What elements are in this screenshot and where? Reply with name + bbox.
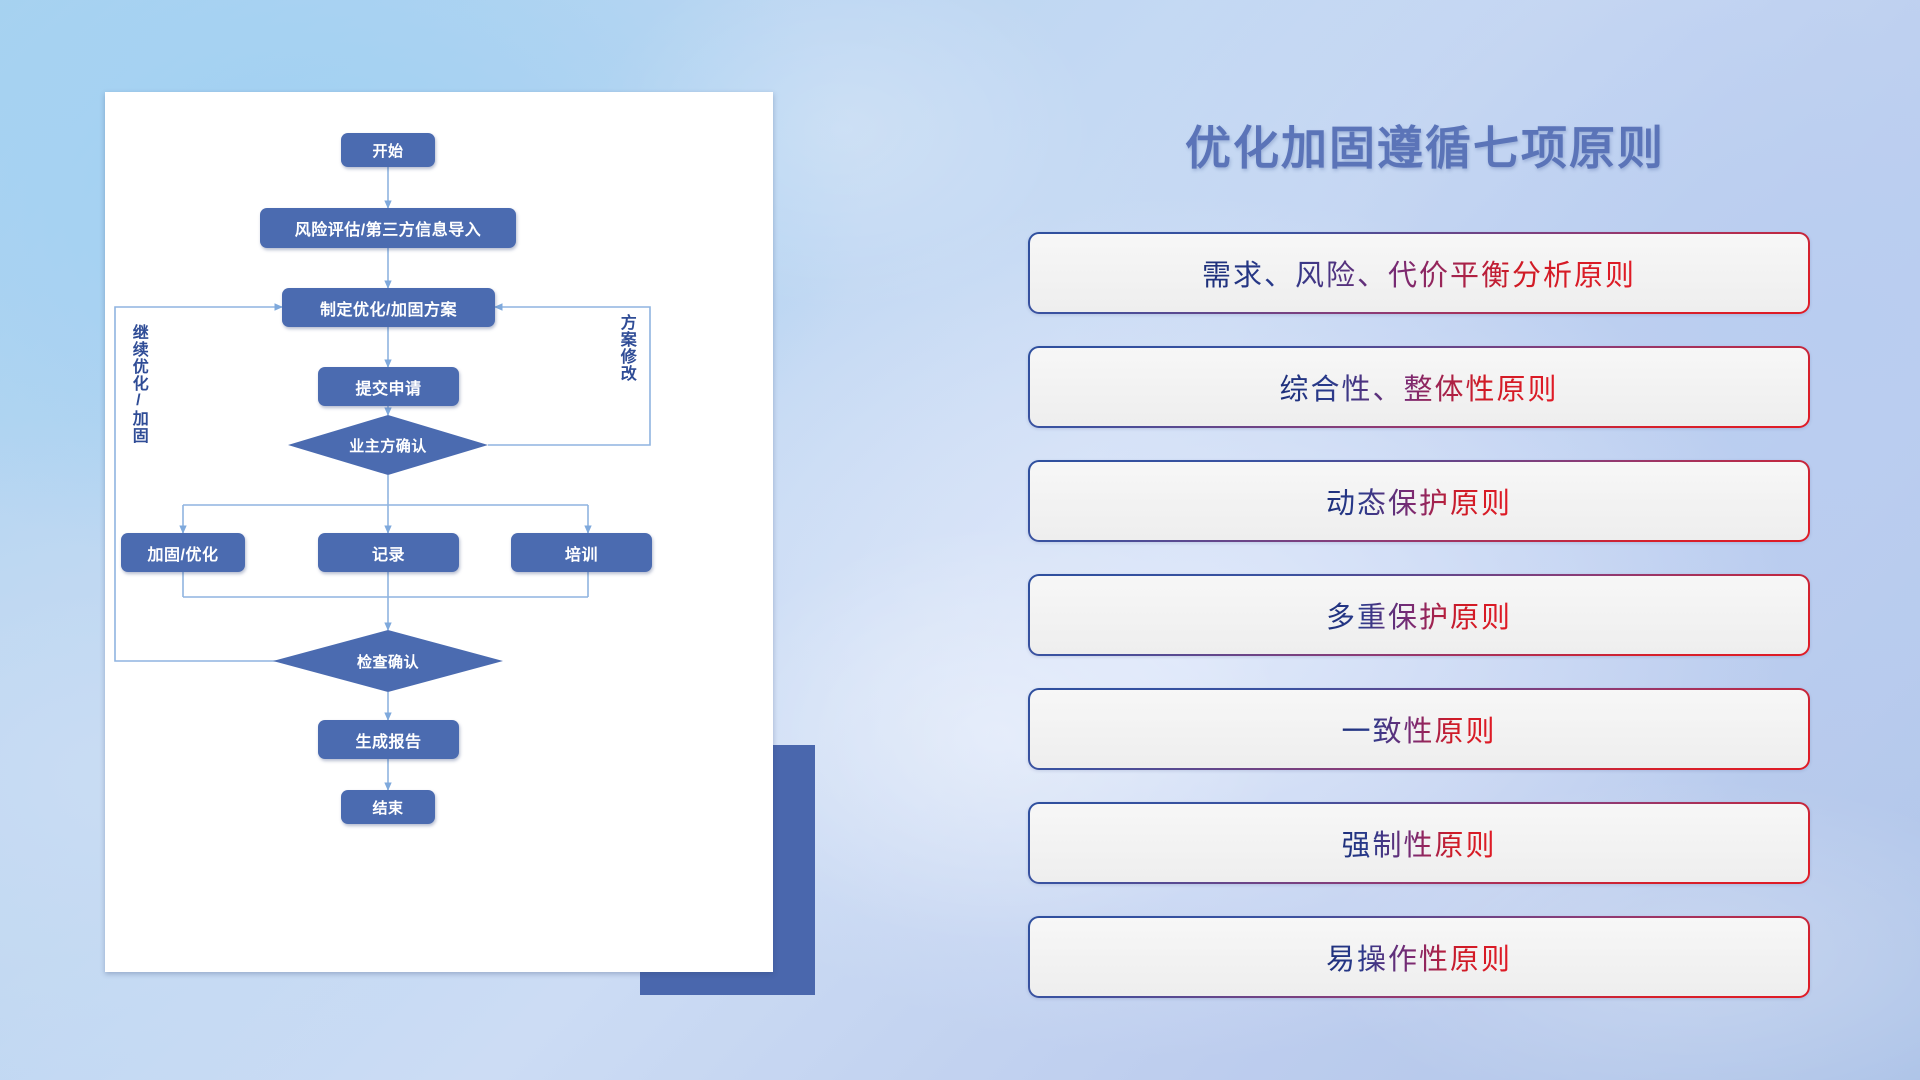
principle-card-label: 强制性原则 [1341,822,1496,864]
principle-card-inner: 强制性原则 [1030,804,1808,882]
principle-card[interactable]: 动态保护原则 [1028,460,1810,542]
flow-node-record[interactable]: 记录 [318,533,459,572]
flow-node-training-label: 培训 [565,541,598,565]
flow-node-owner-confirm[interactable]: 业主方确认 [288,415,488,475]
slide-canvas: 开始 风险评估/第三方信息导入 制定优化/加固方案 提交申请 业主方确认 [0,0,1920,1080]
flow-node-reinforce-optimize[interactable]: 加固/优化 [121,533,245,572]
flow-node-end-label: 结束 [372,797,403,818]
principle-card[interactable]: 需求、风险、代价平衡分析原则 [1028,232,1810,314]
flow-node-risk-assessment-label: 风险评估/第三方信息导入 [295,216,481,240]
flow-node-end[interactable]: 结束 [341,790,435,824]
principles-list: 需求、风险、代价平衡分析原则 综合性、整体性原则 动态保护原则 多重保护原则 一… [1028,232,1810,1030]
flow-node-training[interactable]: 培训 [511,533,652,572]
principle-card[interactable]: 综合性、整体性原则 [1028,346,1810,428]
flow-node-start-label: 开始 [372,140,403,161]
principle-card-inner: 多重保护原则 [1030,576,1808,654]
flowchart-panel: 开始 风险评估/第三方信息导入 制定优化/加固方案 提交申请 业主方确认 [105,92,773,972]
flow-node-submit-application[interactable]: 提交申请 [318,367,459,406]
principle-card-label: 综合性、整体性原则 [1279,366,1558,408]
principle-card-inner: 综合性、整体性原则 [1030,348,1808,426]
principle-card[interactable]: 易操作性原则 [1028,916,1810,998]
principle-card[interactable]: 一致性原则 [1028,688,1810,770]
principle-card-inner: 需求、风险、代价平衡分析原则 [1030,234,1808,312]
principle-card-inner: 易操作性原则 [1030,918,1808,996]
principle-card-inner: 动态保护原则 [1030,462,1808,540]
flow-node-risk-assessment[interactable]: 风险评估/第三方信息导入 [260,208,516,248]
flow-node-reinforce-optimize-label: 加固/优化 [148,541,219,565]
principle-card-label: 需求、风险、代价平衡分析原则 [1202,252,1636,294]
flow-node-check-confirm[interactable]: 检查确认 [273,630,503,692]
flow-edge-label-plan-revision: 方案修改 [617,314,634,414]
principle-card[interactable]: 多重保护原则 [1028,574,1810,656]
principle-card-label: 一致性原则 [1341,708,1496,750]
flow-node-make-plan[interactable]: 制定优化/加固方案 [282,288,495,327]
principle-card-label: 动态保护原则 [1326,480,1512,522]
flow-node-start[interactable]: 开始 [341,133,435,167]
principle-card[interactable]: 强制性原则 [1028,802,1810,884]
flow-node-generate-report-label: 生成报告 [355,728,421,752]
flow-node-record-label: 记录 [372,541,405,565]
flow-node-make-plan-label: 制定优化/加固方案 [320,296,457,320]
principle-card-label: 多重保护原则 [1326,594,1512,636]
flow-node-submit-application-label: 提交申请 [355,375,421,399]
principle-card-inner: 一致性原则 [1030,690,1808,768]
flow-node-generate-report[interactable]: 生成报告 [318,720,459,759]
principle-card-label: 易操作性原则 [1326,936,1512,978]
flow-edge-label-continue-optimize: 继续优化/加固 [129,324,146,459]
page-title: 优化加固遵循七项原则 [1030,112,1820,178]
flowchart-nodes: 开始 风险评估/第三方信息导入 制定优化/加固方案 提交申请 业主方确认 [105,92,773,972]
